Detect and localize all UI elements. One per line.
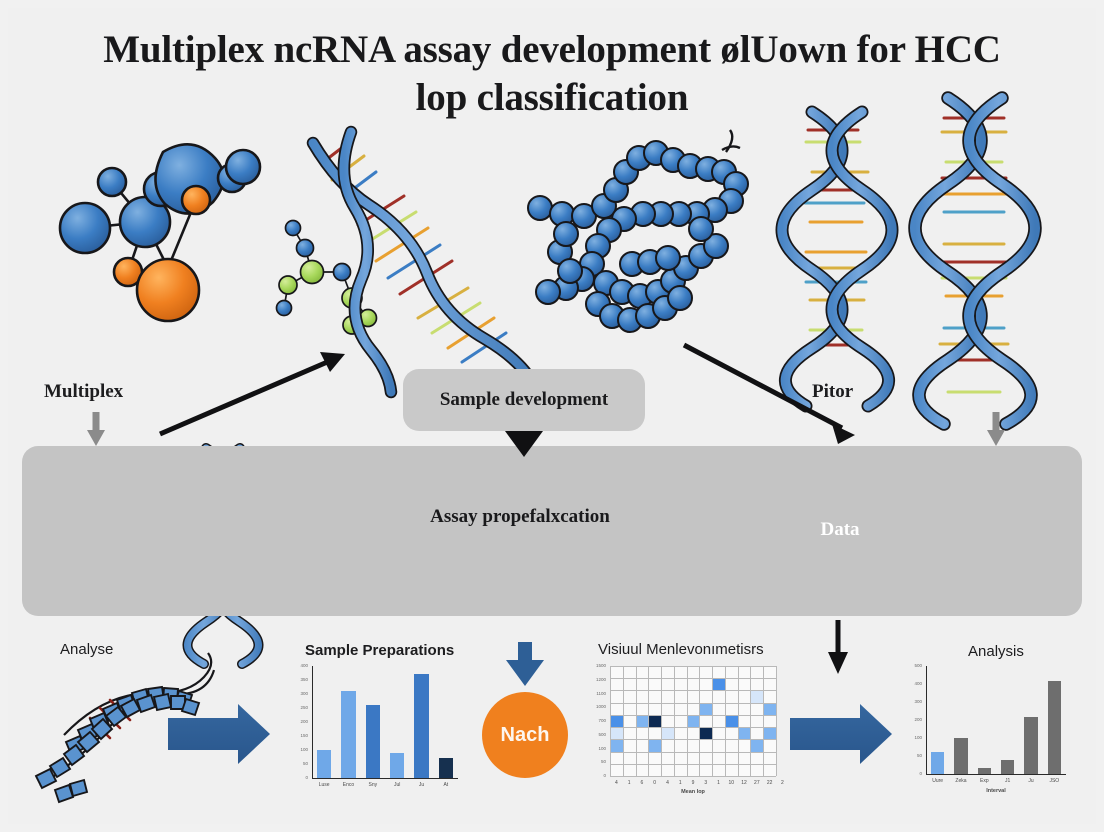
bar: [390, 753, 404, 778]
x-tick-label: JSO: [1043, 778, 1066, 784]
heatmap-cell: [610, 739, 623, 751]
grid-line: [636, 666, 637, 776]
label-multiplex: Multiplex: [44, 381, 123, 403]
x-tick-label: Exp: [973, 778, 996, 784]
bar: [439, 758, 453, 778]
x-tick-label: Uure: [926, 778, 949, 784]
grid-line: [610, 764, 776, 765]
y-axis: [312, 666, 313, 778]
heatmap-cell: [648, 739, 661, 751]
bar: [954, 738, 968, 774]
down-arrow-to-nach: [506, 642, 544, 686]
heatmap-plot-area: [610, 666, 776, 776]
connector-arrow-left: [160, 352, 345, 434]
x-tick-label: 2: [770, 780, 796, 786]
down-arrow-to-analysis: [828, 620, 848, 674]
bar: [1001, 760, 1015, 774]
grid-line: [699, 666, 700, 776]
grid-line: [610, 727, 776, 728]
y-tick-label: 300: [900, 699, 922, 704]
pill-pointer-triangle: [505, 431, 543, 457]
heatmap-cell: [648, 715, 661, 727]
x-axis-label: Interval: [926, 788, 1066, 794]
grid-line: [610, 666, 776, 667]
bar: [414, 674, 428, 778]
label-data-arrow: Data: [800, 519, 880, 541]
bar: [978, 768, 992, 774]
heatmap-cell: [725, 715, 738, 727]
y-tick-label: 500: [900, 663, 922, 668]
heatmap-cell: [750, 739, 763, 751]
heatmap-cell: [610, 715, 623, 727]
heatmap-cell: [763, 727, 776, 739]
heatmap-cell: [699, 703, 712, 715]
x-tick-label: Zeka: [949, 778, 972, 784]
y-tick-label: 100: [288, 747, 308, 752]
dna-helix-vertical-1: [782, 112, 892, 406]
y-tick-label: 250: [288, 705, 308, 710]
y-tick-label: 400: [288, 663, 308, 668]
sample-development-label: Sample development: [440, 389, 608, 411]
y-tick-label: 400: [900, 681, 922, 686]
grid-line: [610, 703, 776, 704]
dna-helix-diagonal: [313, 132, 533, 392]
label-assay-step: Assay propefalxcation: [420, 505, 620, 530]
molecule-illustration-main: [60, 144, 260, 321]
y-tick-label: 150: [288, 733, 308, 738]
grid-line: [648, 666, 649, 776]
y-tick-label: 200: [900, 717, 922, 722]
down-arrow-multiplex: [87, 412, 105, 446]
nach-label: Nach: [501, 724, 550, 747]
label-pitor: Pitor: [812, 381, 853, 403]
grid-line: [610, 690, 776, 691]
heatmap-cell: [610, 727, 623, 739]
grid-line: [687, 666, 688, 776]
grid-line: [712, 666, 713, 776]
chart-analysis: 050100200300400500UureZekaExpJ1JuJSOInte…: [900, 660, 1072, 798]
y-tick-label: 1500: [584, 663, 606, 668]
rna-bead-chain-top: [528, 130, 748, 332]
workflow-band: [22, 446, 1082, 616]
bottom-arrow-2: [790, 704, 892, 764]
bar: [1024, 717, 1038, 774]
sample-development-pill[interactable]: Sample development: [403, 369, 645, 431]
y-tick-label: 0: [288, 775, 308, 780]
x-tick-label: Jul: [385, 782, 409, 788]
x-tick-label: Sny: [361, 782, 385, 788]
y-tick-label: 50: [900, 753, 922, 758]
y-tick-label: 100: [584, 746, 606, 751]
grid-line: [763, 666, 764, 776]
grid-line: [610, 715, 776, 716]
x-tick-label: At: [434, 782, 458, 788]
y-tick-label: 100: [900, 735, 922, 740]
heatmap-cell: [687, 715, 700, 727]
y-tick-label: 300: [288, 691, 308, 696]
y-axis: [926, 666, 927, 774]
bar: [341, 691, 355, 778]
x-axis-label: Mean Iop: [610, 789, 776, 795]
dna-helix-vertical-2: [915, 98, 1035, 424]
x-tick-label: J1: [996, 778, 1019, 784]
y-tick-label: 1100: [584, 691, 606, 696]
y-tick-label: 200: [288, 719, 308, 724]
y-tick-label: 350: [288, 677, 308, 682]
heatmap-cell: [750, 690, 763, 702]
bar: [317, 750, 331, 778]
y-tick-label: 50: [584, 759, 606, 764]
bar: [1048, 681, 1062, 774]
x-tick-label: Luse: [312, 782, 336, 788]
x-axis: [312, 778, 458, 779]
bar: [366, 705, 380, 778]
diagram-canvas: Multiplex ncRNA assay development ølUown…: [0, 0, 1104, 832]
grid-line: [776, 666, 777, 776]
label-visual-measurements: Visiuul Menlevonımetisrs: [598, 641, 764, 658]
nach-circle[interactable]: Nach: [482, 692, 568, 778]
bottom-arrow-1: [168, 704, 270, 764]
grid-line: [610, 739, 776, 740]
y-tick-label: 0: [584, 773, 606, 778]
x-axis: [926, 774, 1066, 775]
label-sample-preparations: Sample Preparations: [305, 642, 454, 659]
heatmap-cell: [699, 727, 712, 739]
heatmap-cell: [636, 715, 649, 727]
y-tick-label: 0: [900, 771, 922, 776]
y-tick-label: 700: [584, 718, 606, 723]
heatmap-cell: [712, 678, 725, 690]
chart-sample-preparations: 050100150200250300350400LuseEncoSnyJulJu…: [288, 660, 464, 798]
grid-line: [623, 666, 624, 776]
y-tick-label: 500: [584, 732, 606, 737]
grid-line: [610, 678, 776, 679]
grid-line: [674, 666, 675, 776]
grid-line: [725, 666, 726, 776]
x-tick-label: Ju: [409, 782, 433, 788]
label-analyse: Analyse: [60, 641, 113, 658]
grid-line: [610, 752, 776, 753]
label-analysis: Analysis: [968, 643, 1024, 660]
heatmap-cell: [763, 703, 776, 715]
grid-line: [610, 666, 611, 776]
y-tick-label: 1000: [584, 704, 606, 709]
grid-line: [661, 666, 662, 776]
grid-line: [610, 776, 776, 777]
x-tick-label: Enco: [336, 782, 360, 788]
grid-line: [750, 666, 751, 776]
heatmap-cell: [661, 727, 674, 739]
x-tick-label: Ju: [1019, 778, 1042, 784]
bar: [931, 752, 945, 774]
heatmap-cell: [738, 727, 751, 739]
y-tick-label: 50: [288, 761, 308, 766]
y-tick-label: 1200: [584, 677, 606, 682]
grid-line: [738, 666, 739, 776]
chart-visual-measurements: 0501005007001000110012001500416041931101…: [584, 662, 780, 798]
